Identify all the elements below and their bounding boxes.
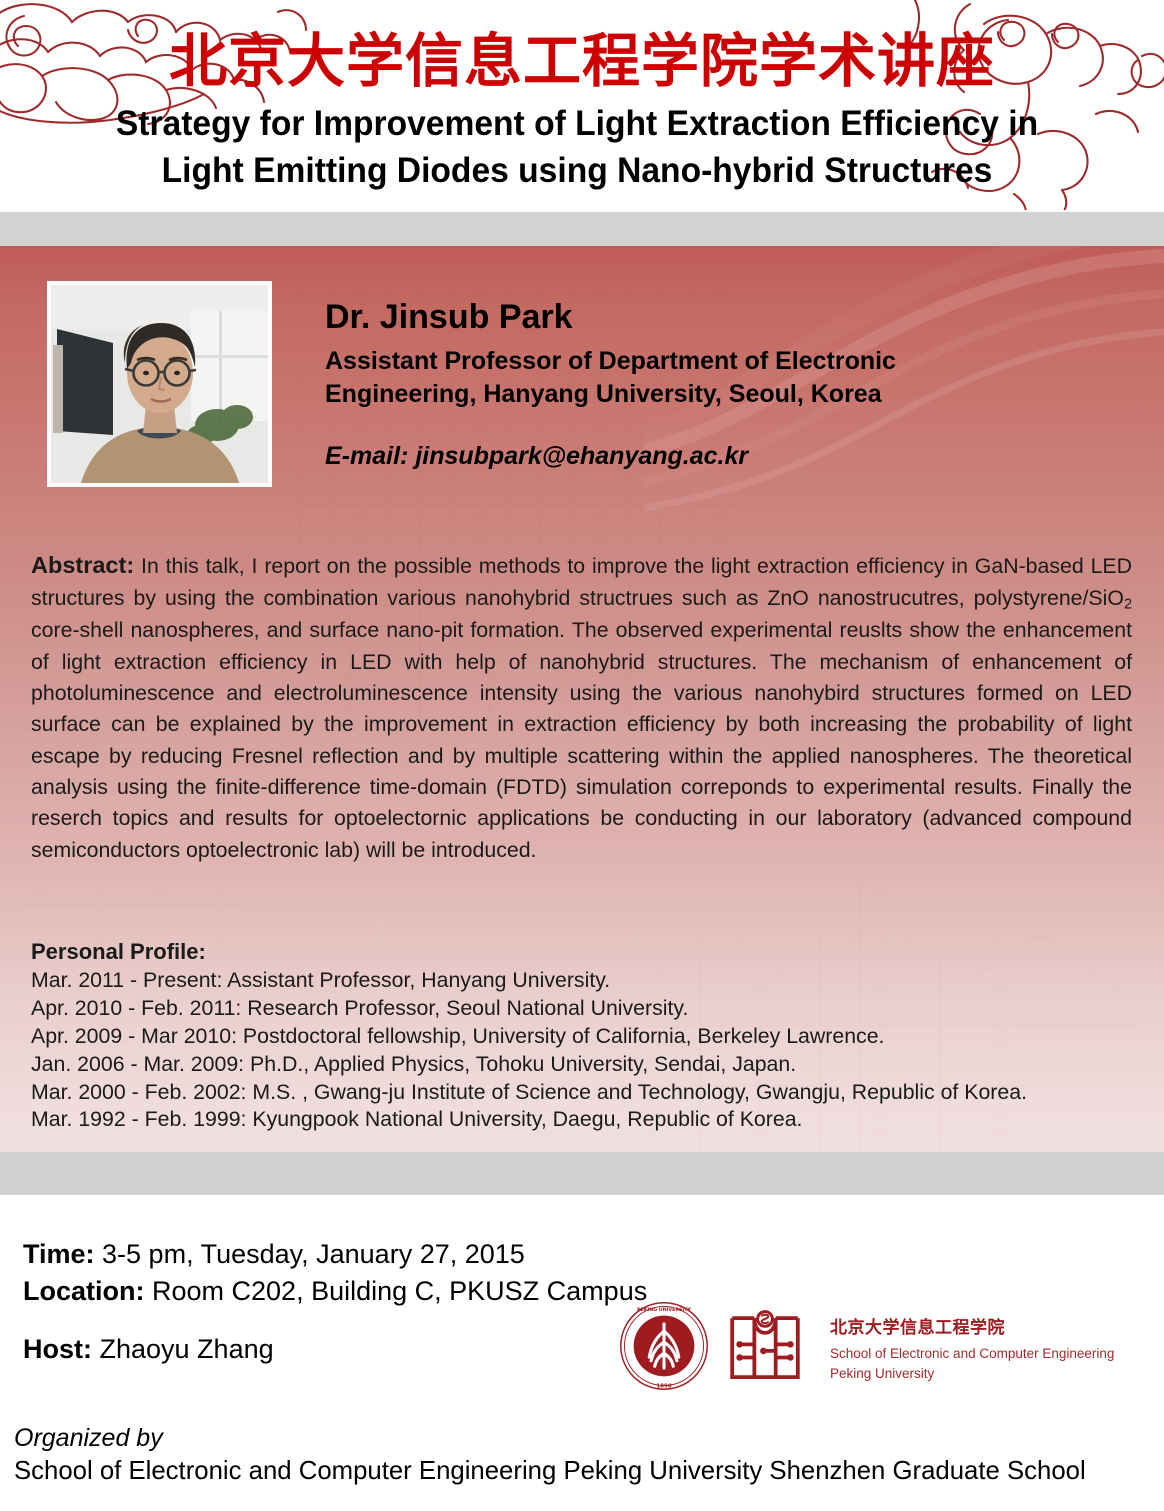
location-value: Room C202, Building C, PKUSZ Campus — [145, 1276, 648, 1306]
footer-logos: PEKING UNIVERSITY 1898 — [618, 1300, 1114, 1397]
email-address[interactable]: jinsubpark@ehanyang.ac.kr — [415, 442, 748, 470]
host-label: Host: — [23, 1334, 92, 1364]
list-item: Mar. 1992 - Feb. 1999: Kyungpook Nationa… — [31, 1106, 1141, 1134]
speaker-affiliation: Assistant Professor of Department of Ele… — [325, 345, 1085, 412]
seminar-poster: 北京大学信息工程学院学术讲座 Strategy for Improvement … — [0, 0, 1164, 1511]
organized-by-label: Organized by — [14, 1424, 1097, 1453]
organizer-section: Organized by School of Electronic and Co… — [14, 1424, 1097, 1486]
affiliation-line-1: Assistant Professor of Department of Ele… — [325, 345, 1085, 378]
speaker-name: Dr. Jinsub Park — [325, 298, 1085, 337]
title-line-2: Light Emitting Diodes using Nano-hybrid … — [61, 147, 1092, 194]
sece-chinese-name: 北京大学信息工程学院 — [830, 1313, 1114, 1338]
header-divider-band — [0, 212, 1164, 246]
peking-university-seal-icon: PEKING UNIVERSITY 1898 — [618, 1300, 710, 1397]
profile-heading: Personal Profile: — [31, 939, 1141, 965]
abstract-text-part-2: core-shell nanospheres, and surface nano… — [31, 618, 1132, 861]
speaker-info: Dr. Jinsub Park Assistant Professor of D… — [325, 298, 1085, 471]
speaker-email: E-mail: jinsubpark@ehanyang.ac.kr — [325, 442, 1085, 471]
abstract-text-part-1: In this talk, I report on the possible m… — [31, 554, 1132, 610]
sece-english-line-1: School of Electronic and Computer Engine… — [830, 1344, 1114, 1364]
personal-profile-section: Personal Profile: Mar. 2011 - Present: A… — [31, 939, 1141, 1134]
location-label: Location: — [23, 1276, 145, 1306]
speaker-photo-frame — [47, 281, 272, 487]
title-line-1: Strategy for Improvement of Light Extrac… — [61, 100, 1092, 147]
svg-text:PEKING UNIVERSITY: PEKING UNIVERSITY — [637, 1307, 691, 1313]
host-value: Zhaoyu Zhang — [92, 1334, 274, 1364]
email-label: E-mail: — [325, 442, 408, 470]
list-item: Apr. 2009 - Mar 2010: Postdoctoral fello… — [31, 1023, 1141, 1051]
list-item: Jan. 2006 - Mar. 2009: Ph.D., Applied Ph… — [31, 1051, 1141, 1079]
list-item: Apr. 2010 - Feb. 2011: Research Professo… — [31, 995, 1141, 1023]
poster-header: 北京大学信息工程学院学术讲座 Strategy for Improvement … — [0, 0, 1164, 210]
abstract-subscript: 2 — [1124, 596, 1132, 612]
sece-wordmark: 北京大学信息工程学院 School of Electronic and Comp… — [830, 1313, 1114, 1383]
organizer-name: School of Electronic and Computer Engine… — [14, 1455, 1086, 1486]
content-footer-band — [0, 1152, 1164, 1195]
page-title-english: Strategy for Improvement of Light Extrac… — [61, 100, 1092, 195]
sece-english-line-2: Peking University — [830, 1364, 1114, 1384]
event-location: Location: Room C202, Building C, PKUSZ C… — [23, 1273, 647, 1310]
time-value: 3-5 pm, Tuesday, January 27, 2015 — [95, 1239, 525, 1269]
list-item: Mar. 2000 - Feb. 2002: M.S. , Gwang-ju I… — [31, 1079, 1141, 1107]
event-details: Time: 3-5 pm, Tuesday, January 27, 2015 … — [23, 1236, 647, 1311]
sece-logo-icon — [724, 1305, 806, 1392]
affiliation-line-2: Engineering, Hanyang University, Seoul, … — [325, 378, 1085, 411]
abstract-label: Abstract: — [31, 552, 134, 578]
abstract-section: Abstract: In this talk, I report on the … — [31, 548, 1132, 866]
time-label: Time: — [23, 1239, 95, 1269]
svg-text:1898: 1898 — [656, 1383, 672, 1389]
list-item: Mar. 2011 - Present: Assistant Professor… — [31, 967, 1141, 995]
event-time: Time: 3-5 pm, Tuesday, January 27, 2015 — [23, 1236, 647, 1273]
event-host: Host: Zhaoyu Zhang — [23, 1334, 274, 1365]
page-title-chinese: 北京大学信息工程学院学术讲座 — [0, 14, 1164, 98]
avatar — [51, 285, 268, 483]
